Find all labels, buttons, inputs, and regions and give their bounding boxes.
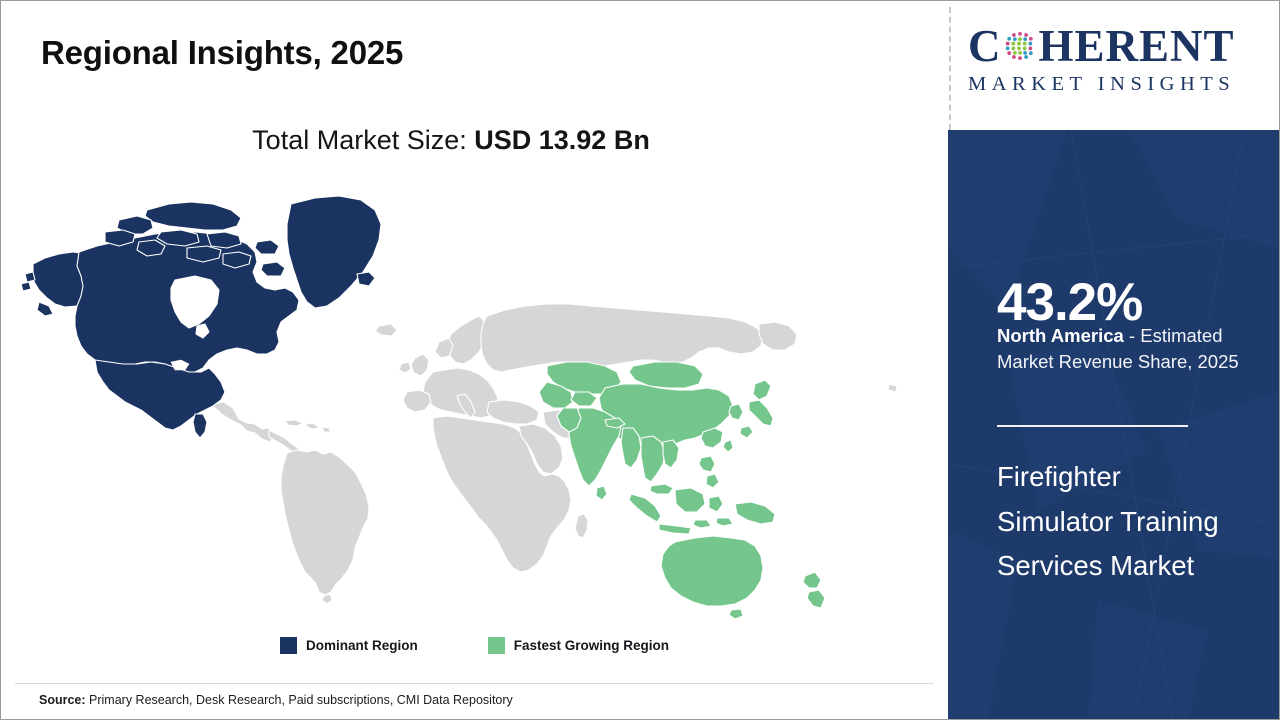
square-swatch-icon-fastest-growing bbox=[488, 637, 505, 654]
legend-item-fastest-growing: Fastest Growing Region bbox=[488, 637, 669, 654]
right-sidebar: C bbox=[948, 1, 1280, 720]
left-content-panel: Regional Insights, 2025 Total Market Siz… bbox=[1, 1, 948, 720]
brand-logo: C bbox=[968, 23, 1268, 96]
map-legend: Dominant Region Fastest Growing Region bbox=[1, 637, 948, 654]
stat-description: North America - Estimated Market Revenue… bbox=[997, 323, 1259, 376]
source-label: Source: bbox=[39, 693, 86, 707]
footer-divider bbox=[15, 683, 934, 684]
brand-logo-tagline: MARKET INSIGHTS bbox=[968, 73, 1268, 96]
world-map bbox=[19, 176, 899, 626]
market-name: Firefighter Simulator Training Services … bbox=[997, 455, 1227, 589]
brand-logo-letters-herent: HERENT bbox=[1039, 24, 1235, 69]
source-note: Source: Primary Research, Desk Research,… bbox=[39, 693, 513, 707]
dashed-divider bbox=[949, 7, 951, 130]
total-market-size-label: Total Market Size: bbox=[252, 125, 474, 155]
stat-content: 43.2% North America - Estimated Market R… bbox=[997, 130, 1263, 720]
total-market-size-value: USD 13.92 Bn bbox=[474, 125, 650, 155]
logo-zone: C bbox=[948, 1, 1280, 130]
stat-region-name: North America bbox=[997, 325, 1124, 346]
square-swatch-icon-dominant bbox=[280, 637, 297, 654]
brand-logo-letter-c: C bbox=[968, 24, 1002, 69]
page-title: Regional Insights, 2025 bbox=[41, 34, 403, 72]
source-text: Primary Research, Desk Research, Paid su… bbox=[86, 693, 513, 707]
world-map-svg bbox=[19, 176, 899, 626]
map-region-asia-pacific bbox=[539, 362, 825, 619]
legend-item-dominant: Dominant Region bbox=[280, 637, 418, 654]
map-region-rest-of-world bbox=[187, 304, 897, 604]
stat-panel: 43.2% North America - Estimated Market R… bbox=[948, 130, 1280, 720]
total-market-size: Total Market Size: USD 13.92 Bn bbox=[1, 125, 901, 156]
infographic-page: Regional Insights, 2025 Total Market Siz… bbox=[0, 0, 1280, 720]
legend-label-dominant: Dominant Region bbox=[306, 638, 418, 653]
legend-label-fastest-growing: Fastest Growing Region bbox=[514, 638, 669, 653]
stat-percent-value: 43.2% bbox=[997, 276, 1142, 329]
dotted-globe-icon bbox=[1002, 28, 1038, 64]
stat-divider bbox=[997, 425, 1188, 427]
brand-logo-wordmark: C bbox=[968, 23, 1268, 69]
